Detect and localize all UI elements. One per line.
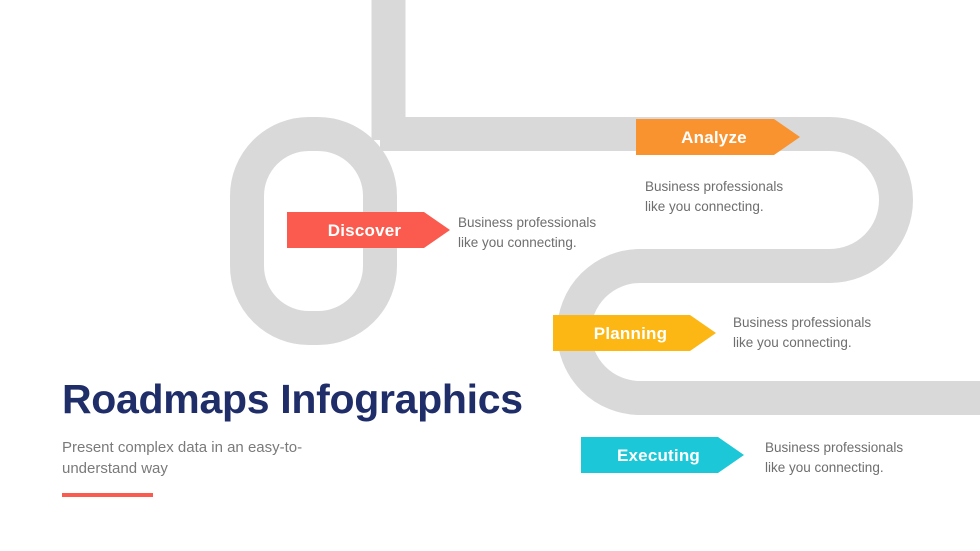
- description-line-1: Business professionals: [733, 313, 871, 333]
- milestone-arrow-executing[interactable]: Executing: [581, 437, 744, 473]
- description-line-2: like you connecting.: [733, 333, 871, 353]
- description-line-2: like you connecting.: [645, 197, 783, 217]
- accent-rule: [62, 493, 153, 497]
- milestone-arrow-planning[interactable]: Planning: [553, 315, 716, 351]
- road-main-curve: [380, 134, 980, 398]
- page-title: Roadmaps Infographics: [62, 374, 542, 424]
- title-block: Roadmaps Infographics Present complex da…: [62, 374, 542, 479]
- milestone-label-planning: Planning: [594, 325, 667, 342]
- roadmap-infographic-slide: Discover Business professionals like you…: [0, 0, 980, 551]
- description-line-2: like you connecting.: [458, 233, 596, 253]
- milestone-label-discover: Discover: [328, 222, 401, 239]
- milestone-description-planning: Business professionals like you connecti…: [733, 313, 871, 353]
- milestone-arrow-discover[interactable]: Discover: [287, 212, 450, 248]
- milestone-description-analyze: Business professionals like you connecti…: [645, 177, 783, 217]
- milestone-arrow-analyze[interactable]: Analyze: [636, 119, 800, 155]
- page-subtitle: Present complex data in an easy-to-under…: [62, 437, 312, 479]
- description-line-2: like you connecting.: [765, 458, 903, 478]
- description-line-1: Business professionals: [645, 177, 783, 197]
- milestone-description-discover: Business professionals like you connecti…: [458, 213, 596, 253]
- milestone-label-analyze: Analyze: [681, 129, 747, 146]
- description-line-1: Business professionals: [765, 438, 903, 458]
- milestone-label-executing: Executing: [617, 447, 700, 464]
- milestone-description-executing: Business professionals like you connecti…: [765, 438, 903, 478]
- description-line-1: Business professionals: [458, 213, 596, 233]
